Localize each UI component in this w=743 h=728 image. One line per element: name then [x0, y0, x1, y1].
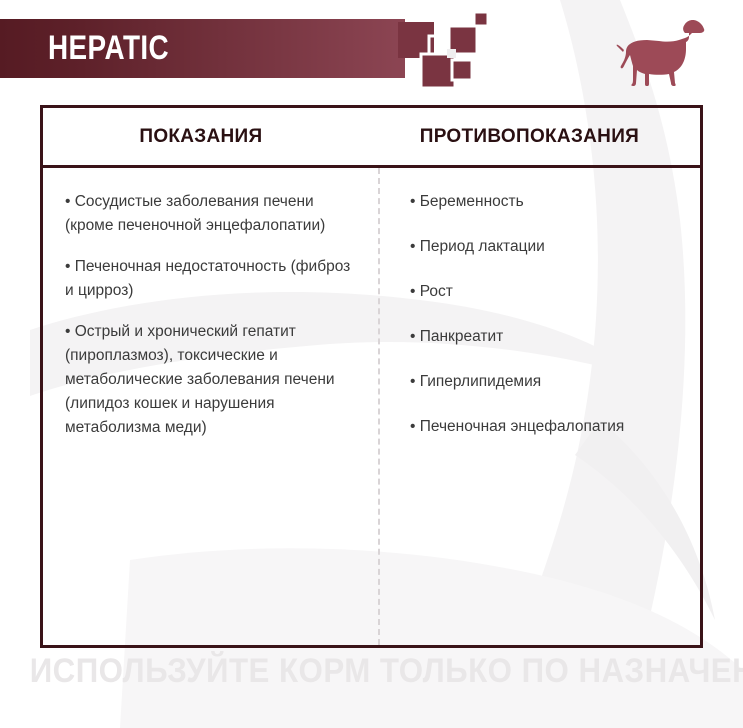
- dog-silhouette-icon: [615, 14, 707, 86]
- list-item: • Острый и хронический гепатит (пироплаз…: [65, 320, 356, 440]
- list-item: • Панкреатит: [410, 325, 678, 349]
- list-item: • Период лактации: [410, 235, 678, 259]
- table-header-row: ПОКАЗАНИЯ ПРОТИВОПОКАЗАНИЯ: [43, 108, 700, 168]
- list-item: • Беременность: [410, 190, 678, 214]
- column-header-indications: ПОКАЗАНИЯ: [43, 108, 359, 165]
- list-item: • Печеночная энцефалопатия: [410, 415, 678, 439]
- page-title: HEPATIC: [48, 26, 169, 70]
- column-header-contraindications: ПРОТИВОПОКАЗАНИЯ: [359, 108, 700, 165]
- page-header: HEPATIC: [0, 0, 743, 100]
- indications-table: ПОКАЗАНИЯ ПРОТИВОПОКАЗАНИЯ • Сосудистые …: [40, 105, 703, 648]
- list-item: • Сосудистые заболевания печени (кроме п…: [65, 190, 356, 238]
- list-item: • Гиперлипидемия: [410, 370, 678, 394]
- pixel-squares-icon: [398, 8, 518, 94]
- list-item: • Рост: [410, 280, 678, 304]
- table-body: • Сосудистые заболевания печени (кроме п…: [43, 168, 700, 645]
- footer-disclaimer: ИСПОЛЬЗУЙТЕ КОРМ ТОЛЬКО ПО НАЗНАЧЕНИЮ ВР…: [30, 652, 714, 691]
- contraindications-column: • Беременность • Период лактации • Рост …: [380, 168, 700, 645]
- indications-column: • Сосудистые заболевания печени (кроме п…: [43, 168, 380, 645]
- list-item: • Печеночная недостаточность (фиброз и ц…: [65, 255, 356, 303]
